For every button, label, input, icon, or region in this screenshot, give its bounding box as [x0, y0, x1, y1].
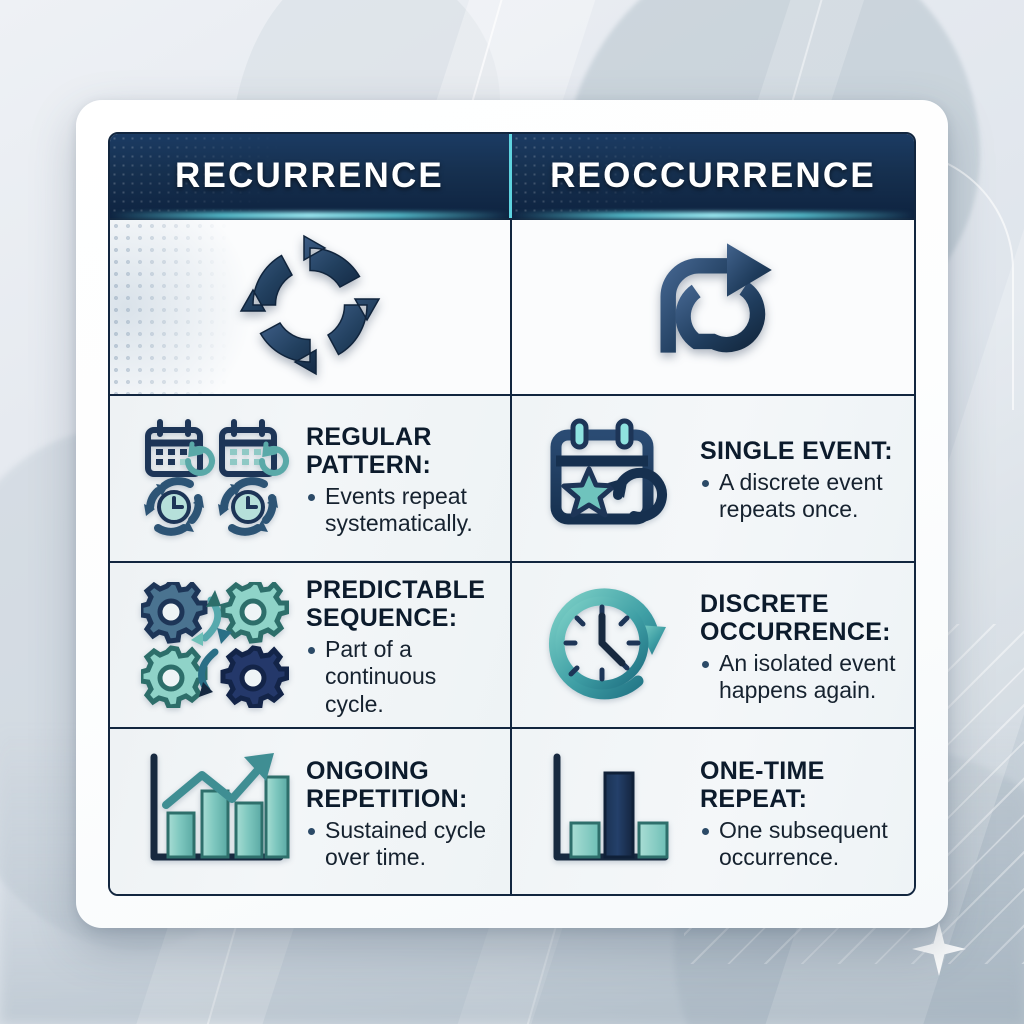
table-header-row: RECURRENCE REOCCURRENCE	[110, 134, 914, 220]
cell-one-time-repeat: ONE-TIME REPEAT: One subsequent occurren…	[512, 729, 914, 894]
hero-cell-reoccurrence	[512, 220, 914, 394]
calendar-with-star-and-undo-icon	[512, 396, 698, 561]
item-description: One subsequent occurrence.	[700, 817, 900, 871]
text-block: REGULAR PATTERN: Events repeat systemati…	[306, 419, 510, 537]
header-cell-reoccurrence: REOCCURRENCE	[512, 134, 914, 218]
text-block: PREDICTABLE SEQUENCE: Part of a continuo…	[306, 572, 510, 717]
clock-with-circular-arrow-icon	[512, 563, 698, 728]
item-description: Sustained cycle over time.	[306, 817, 496, 871]
header-glow-line	[110, 212, 509, 219]
header-cell-recurrence: RECURRENCE	[110, 134, 512, 218]
rising-bar-chart-with-trend-arrow-icon	[110, 729, 306, 894]
column-title-reoccurrence: REOCCURRENCE	[550, 156, 876, 196]
item-title: DISCRETE OCCURRENCE:	[700, 590, 900, 646]
circular-cycle-arrows-icon	[230, 230, 390, 385]
item-title: SINGLE EVENT:	[700, 437, 900, 465]
item-title: ONE-TIME REPEAT:	[700, 757, 900, 813]
four-point-sparkle-icon	[912, 922, 966, 976]
item-description: Events repeat systematically.	[306, 483, 496, 537]
cell-predictable-sequence: PREDICTABLE SEQUENCE: Part of a continuo…	[110, 563, 512, 728]
comparison-card: RECURRENCE REOCCURRENCE	[76, 100, 948, 928]
four-gears-with-arrows-icon	[110, 563, 306, 728]
text-block: ONE-TIME REPEAT: One subsequent occurren…	[698, 753, 914, 871]
item-title: PREDICTABLE SEQUENCE:	[306, 576, 496, 632]
background-stage: RECURRENCE REOCCURRENCE	[0, 0, 1024, 1024]
hero-icon-row	[110, 220, 914, 396]
table-row: PREDICTABLE SEQUENCE: Part of a continuo…	[110, 563, 914, 730]
cell-ongoing-repetition: ONGOING REPETITION: Sustained cycle over…	[110, 729, 512, 894]
text-block: ONGOING REPETITION: Sustained cycle over…	[306, 753, 510, 871]
bar-chart-single-spike-icon	[512, 729, 698, 894]
item-title: REGULAR PATTERN:	[306, 423, 496, 479]
header-glow-line	[512, 212, 914, 219]
table-row: REGULAR PATTERN: Events repeat systemati…	[110, 396, 914, 563]
item-description: Part of a continuous cycle.	[306, 636, 496, 717]
text-block: DISCRETE OCCURRENCE: An isolated event h…	[698, 586, 914, 704]
loop-repeat-arrow-icon	[638, 235, 788, 380]
cell-regular-pattern: REGULAR PATTERN: Events repeat systemati…	[110, 396, 512, 561]
item-description: An isolated event happens again.	[700, 650, 900, 704]
column-title-recurrence: RECURRENCE	[175, 156, 444, 196]
item-title: ONGOING REPETITION:	[306, 757, 496, 813]
item-description: A discrete event repeats once.	[700, 469, 900, 523]
hero-cell-recurrence	[110, 220, 512, 394]
calendars-with-refresh-and-clocks-icon	[110, 396, 306, 561]
cell-discrete-occurrence: DISCRETE OCCURRENCE: An isolated event h…	[512, 563, 914, 728]
halftone-dots-texture	[110, 220, 230, 394]
comparison-table: RECURRENCE REOCCURRENCE	[108, 132, 916, 896]
text-block: SINGLE EVENT: A discrete event repeats o…	[698, 433, 914, 523]
table-row: ONGOING REPETITION: Sustained cycle over…	[110, 729, 914, 894]
cell-single-event: SINGLE EVENT: A discrete event repeats o…	[512, 396, 914, 561]
